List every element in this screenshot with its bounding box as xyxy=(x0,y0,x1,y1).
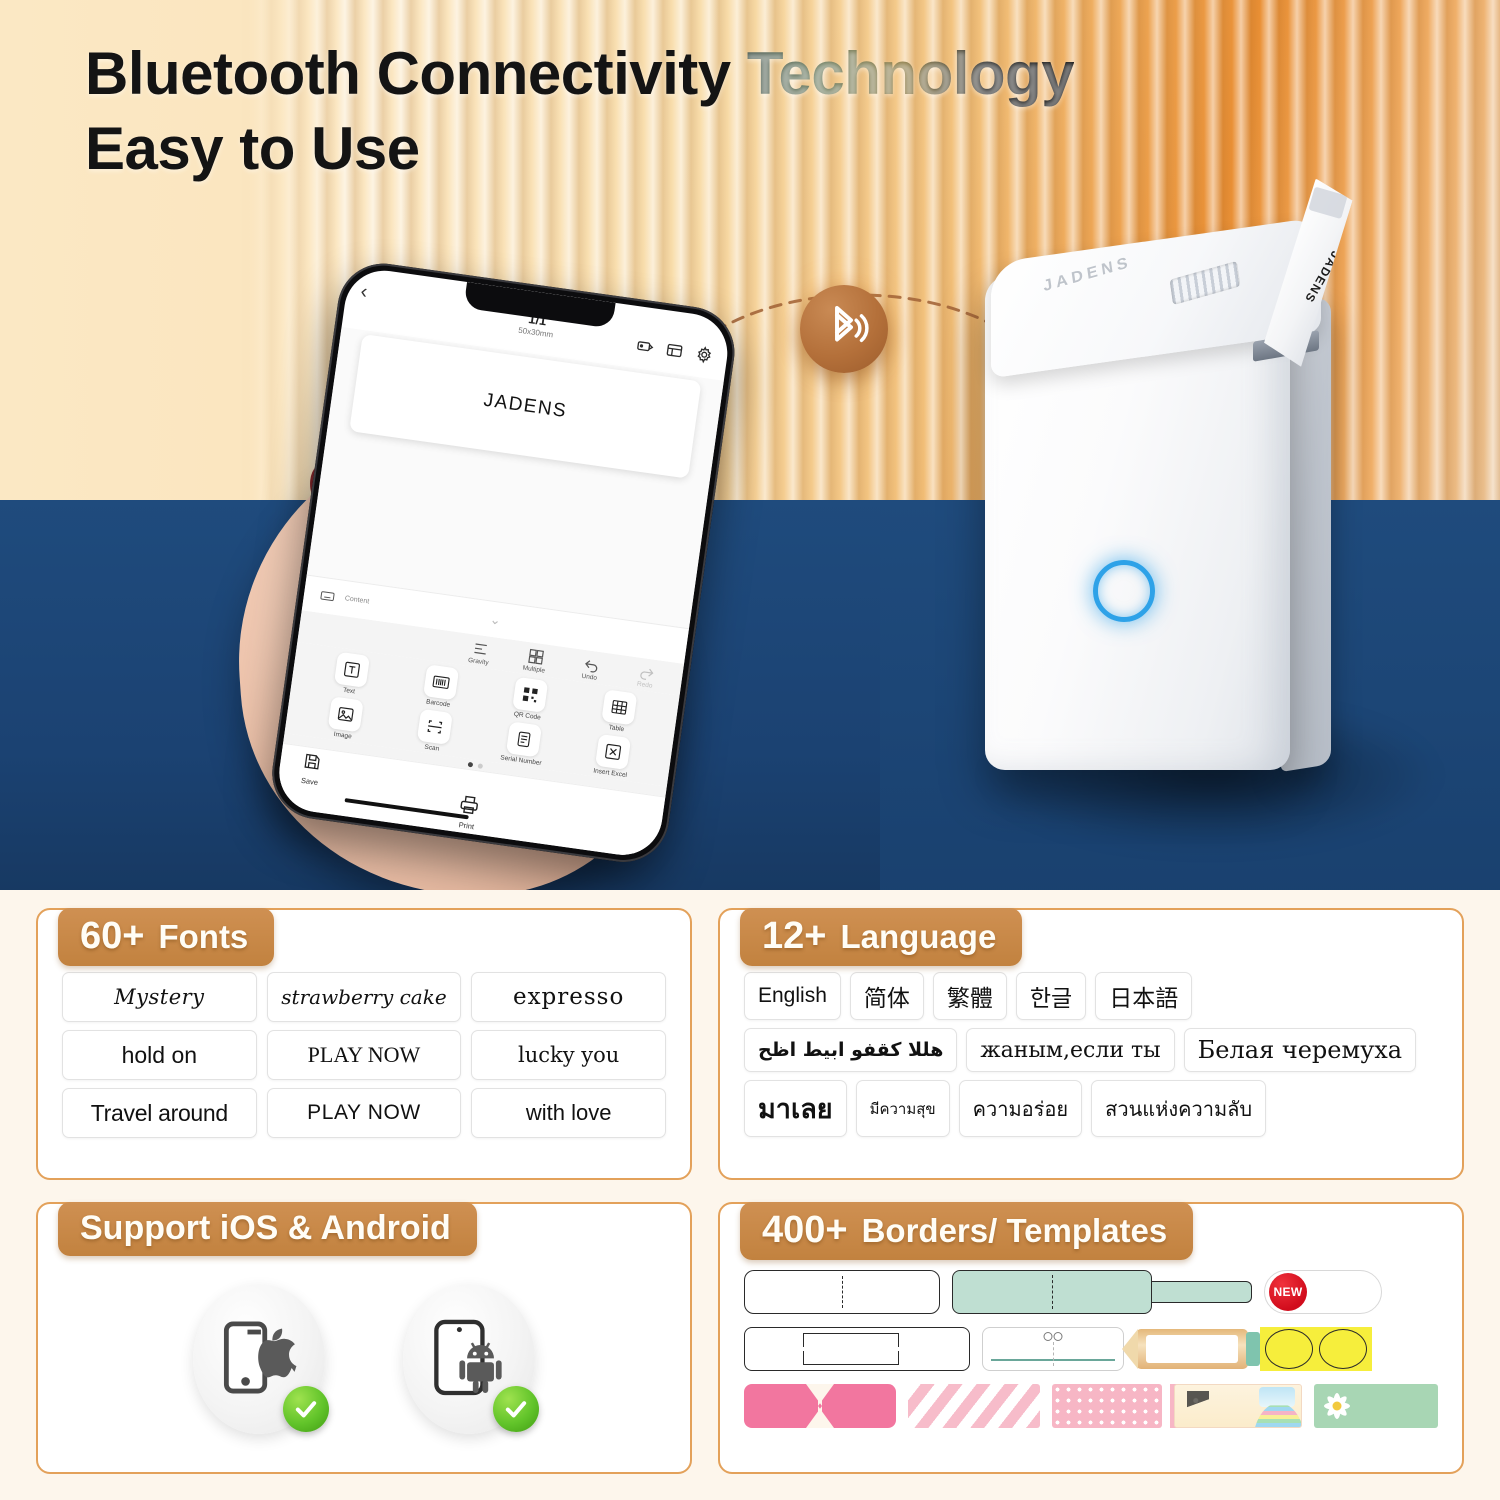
print-label: Print xyxy=(455,820,477,832)
printer-icon xyxy=(457,793,481,817)
language-title: Language xyxy=(840,920,996,953)
image-icon xyxy=(328,696,364,732)
os-item-android xyxy=(403,1284,535,1434)
font-sample-grid: Mystery strawberry cake expresso hold on… xyxy=(56,972,672,1138)
pencil-label-template[interactable] xyxy=(1136,1329,1248,1369)
panel-fonts-badge: 60+ Fonts xyxy=(58,908,274,966)
yellow-oval-label-template[interactable] xyxy=(1260,1327,1372,1371)
back-button[interactable]: ‹ xyxy=(359,281,368,302)
scissor-cut-label-template[interactable] xyxy=(982,1327,1124,1371)
rainbow-icon xyxy=(1253,1403,1302,1428)
check-icon xyxy=(283,1386,329,1432)
headline-line2: Easy to Use xyxy=(85,111,1285,186)
underline xyxy=(991,1359,1115,1361)
unicorn-icon xyxy=(1187,1391,1209,1423)
bracket-bottom xyxy=(803,1351,899,1365)
tool-label: Image xyxy=(333,731,352,740)
language-row: มาเลย มีความสุข ความอร่อย สวนแห่งความลับ xyxy=(744,1080,1438,1137)
new-badge: NEW xyxy=(1269,1273,1307,1311)
app-header-actions xyxy=(635,336,715,365)
align-icon xyxy=(471,639,490,658)
save-label: Save xyxy=(299,776,319,788)
multi-select-icon xyxy=(526,647,545,666)
unicorn-rainbow-label-template[interactable] xyxy=(1174,1384,1302,1428)
daisy-icon xyxy=(1324,1393,1350,1419)
feature-grid: 60+ Fonts Mystery strawberry cake expres… xyxy=(0,890,1500,1500)
tool-barcode[interactable]: Barcode xyxy=(394,660,487,713)
language-row: هللا كقفو ابيط اظح жаным,если ты Белая ч… xyxy=(744,1028,1438,1072)
language-chip[interactable]: هللا كقفو ابيط اظح xyxy=(744,1028,957,1072)
smartphone: ‹ 1/1 50x30mm xyxy=(266,258,740,868)
home-indicator xyxy=(345,798,469,819)
serial-number-icon xyxy=(506,721,542,757)
panel-templates: 400+ Borders/ Templates NEW xyxy=(718,1202,1464,1474)
font-sample[interactable]: Mystery xyxy=(62,972,257,1022)
panel-support: Support iOS & Android xyxy=(36,1202,692,1474)
redo-icon xyxy=(637,663,656,682)
language-chip[interactable]: ความอร่อย xyxy=(959,1080,1083,1137)
quick-action-multiple[interactable]: Multiple xyxy=(515,646,554,676)
language-chip[interactable]: 繁體 xyxy=(933,972,1007,1020)
font-sample[interactable]: PLAY NOW xyxy=(267,1030,462,1080)
pink-dot-label-template[interactable] xyxy=(1052,1384,1162,1428)
mint-label-tail xyxy=(1148,1281,1252,1303)
tool-label: Scan xyxy=(424,744,440,753)
panel-language: 12+ Language English 简体 繁體 한글 日本語 هللا ك… xyxy=(718,908,1464,1180)
mint-flag-label-template[interactable] xyxy=(952,1270,1252,1314)
page-dot[interactable] xyxy=(467,762,473,768)
font-sample[interactable]: strawberry cake xyxy=(267,972,462,1022)
font-sample[interactable]: PLAY NOW xyxy=(267,1088,462,1138)
fonts-title: Fonts xyxy=(158,920,248,953)
panel-language-badge: 12+ Language xyxy=(740,908,1022,966)
pink-stripe-label-template[interactable] xyxy=(908,1384,1040,1428)
pencil-writing-area xyxy=(1146,1335,1238,1363)
pink-bow-label-template[interactable] xyxy=(744,1384,896,1428)
text-icon xyxy=(334,652,370,688)
tool-table[interactable]: Table xyxy=(572,685,665,738)
page-dot[interactable] xyxy=(477,763,483,769)
bracket-top xyxy=(803,1333,899,1347)
font-sample[interactable]: expresso xyxy=(471,972,666,1022)
os-support-row xyxy=(56,1266,672,1434)
undo-icon xyxy=(581,655,600,674)
templates-count: 400+ xyxy=(762,1211,848,1249)
new-pill-label-template[interactable]: NEW xyxy=(1264,1270,1382,1314)
label-tag-icon[interactable] xyxy=(635,336,655,356)
power-button[interactable] xyxy=(1093,560,1155,622)
scissors-icon xyxy=(1044,1332,1063,1341)
tool-label: Text xyxy=(343,687,356,696)
fonts-count: 60+ xyxy=(80,917,144,955)
language-chip[interactable]: жаным,если ты xyxy=(966,1028,1174,1072)
pencil-tip xyxy=(1122,1329,1138,1369)
language-sample-rows: English 简体 繁體 한글 日本語 هللا كقفو ابيط اظح … xyxy=(738,972,1444,1137)
phone-in-hand: ‹ 1/1 50x30mm xyxy=(224,252,770,890)
language-chip[interactable]: 日本語 xyxy=(1095,972,1192,1020)
tool-text[interactable]: Text xyxy=(305,648,398,701)
check-icon xyxy=(493,1386,539,1432)
bluetooth-icon xyxy=(800,285,888,373)
language-chip[interactable]: มีความสุข xyxy=(856,1080,950,1137)
language-chip[interactable]: 简体 xyxy=(850,972,924,1020)
label-preview-text: JADENS xyxy=(482,390,568,423)
gear-icon[interactable] xyxy=(694,345,714,365)
barcode-icon xyxy=(423,664,459,700)
sky-band xyxy=(1259,1387,1295,1407)
template-rows: NEW xyxy=(738,1266,1444,1430)
content-field-label: Content xyxy=(344,595,369,605)
language-chip[interactable]: 한글 xyxy=(1016,972,1086,1020)
language-chip[interactable]: English xyxy=(744,972,841,1020)
mint-label-body xyxy=(952,1270,1152,1314)
qrcode-icon xyxy=(512,677,548,713)
excel-icon xyxy=(595,734,631,770)
green-daisy-label-template[interactable] xyxy=(1314,1384,1438,1428)
support-title: Support iOS & Android xyxy=(80,1211,451,1245)
print-button[interactable]: Print xyxy=(455,793,481,832)
save-icon xyxy=(302,751,323,772)
panel-support-badge: Support iOS & Android xyxy=(58,1202,477,1256)
headline-line1-plain: Bluetooth Connectivity xyxy=(85,40,747,107)
save-button[interactable]: Save xyxy=(299,751,323,787)
bracket-label-template[interactable] xyxy=(744,1327,970,1371)
quick-action-gravity[interactable]: Gravity xyxy=(460,638,499,668)
pencil-eraser xyxy=(1246,1332,1260,1366)
table-icon xyxy=(601,689,637,725)
font-sample[interactable]: Travel around xyxy=(62,1088,257,1138)
chevron-down-icon[interactable]: ⌄ xyxy=(489,611,502,628)
hero-section: Bluetooth Connectivity Technology Easy t… xyxy=(0,0,1500,890)
font-sample[interactable]: with love xyxy=(471,1088,666,1138)
language-count: 12+ xyxy=(762,917,826,955)
template-row xyxy=(744,1382,1438,1430)
headline-line1-accent: Technology xyxy=(747,40,1074,107)
plain-dashed-label-template[interactable] xyxy=(744,1270,940,1314)
template-icon[interactable] xyxy=(664,340,684,360)
tool-label: QR Code xyxy=(513,711,541,722)
page-title: Bluetooth Connectivity Technology Easy t… xyxy=(85,36,1285,186)
tool-label: Barcode xyxy=(426,698,451,708)
tool-label: Table xyxy=(608,724,624,733)
phone-screen: ‹ 1/1 50x30mm xyxy=(274,266,732,860)
templates-title: Borders/ Templates xyxy=(862,1214,1168,1247)
label-printer: JADENS JADENS xyxy=(985,240,1330,770)
language-chip[interactable]: มาเลย xyxy=(744,1080,847,1137)
quick-action-redo[interactable]: Redo xyxy=(626,661,665,691)
language-chip[interactable]: Белая черемуха xyxy=(1184,1028,1416,1072)
quick-action-undo[interactable]: Undo xyxy=(571,654,610,684)
panel-fonts: 60+ Fonts Mystery strawberry cake expres… xyxy=(36,908,692,1180)
template-row xyxy=(744,1325,1438,1373)
tool-qrcode[interactable]: QR Code xyxy=(483,673,576,726)
os-item-ios xyxy=(193,1284,325,1434)
font-sample[interactable]: lucky you xyxy=(471,1030,666,1080)
language-chip[interactable]: สวนแห่งความลับ xyxy=(1091,1080,1266,1137)
template-row: NEW xyxy=(744,1268,1438,1316)
keyboard-icon xyxy=(319,588,336,605)
panel-templates-badge: 400+ Borders/ Templates xyxy=(740,1202,1193,1260)
language-row: English 简体 繁體 한글 日本語 xyxy=(744,972,1438,1020)
scan-icon xyxy=(417,709,453,745)
font-sample[interactable]: hold on xyxy=(62,1030,257,1080)
